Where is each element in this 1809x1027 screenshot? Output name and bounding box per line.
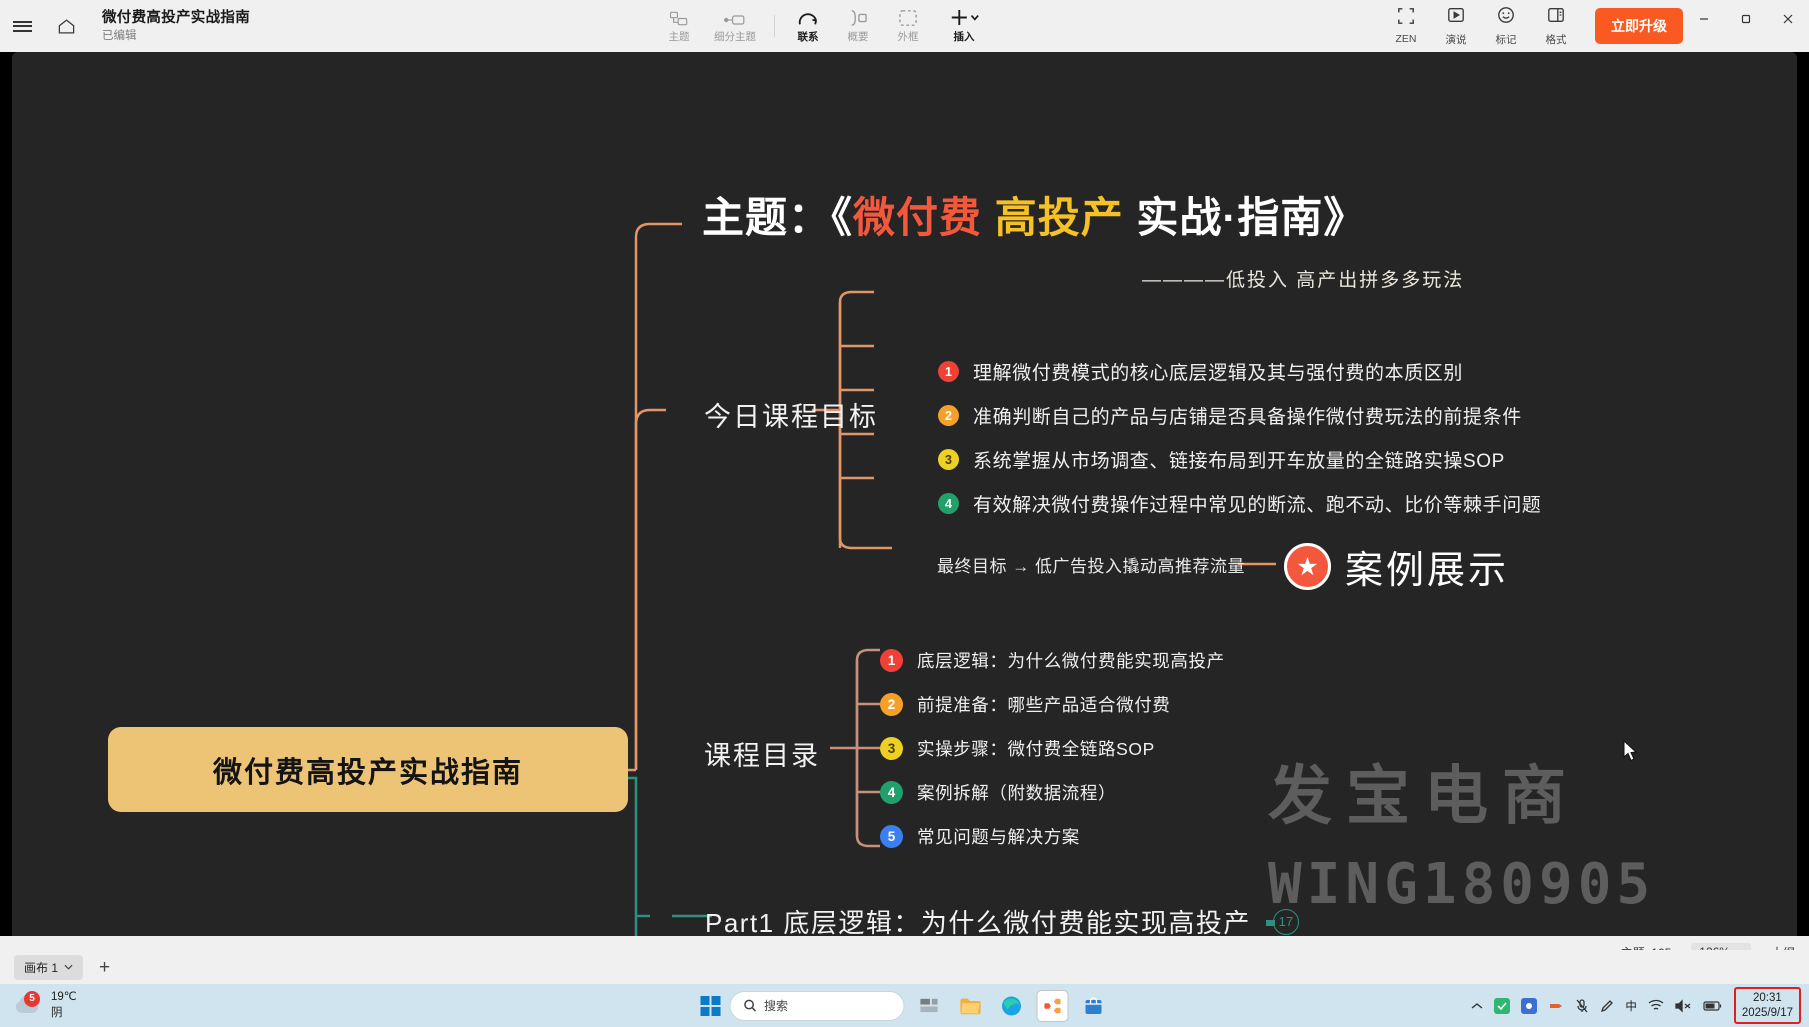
star-icon: ★ bbox=[1284, 543, 1331, 590]
document-status: 已编辑 bbox=[102, 29, 250, 43]
file-explorer-icon[interactable] bbox=[954, 990, 986, 1022]
maximize-button[interactable] bbox=[1725, 0, 1767, 38]
goal-number-1: 1 bbox=[938, 361, 959, 382]
tray-app2-icon[interactable] bbox=[1521, 998, 1537, 1014]
tray-app1-icon[interactable] bbox=[1494, 998, 1510, 1014]
title-red-part: 微付费 bbox=[853, 194, 982, 241]
tool-presentation[interactable]: 演说 bbox=[1433, 2, 1479, 50]
toolbar-center: 主题 细分主题 bbox=[655, 0, 994, 52]
cloud-icon: 5 bbox=[14, 993, 42, 1019]
catalog-item-4[interactable]: 4 案例拆解（附数据流程） bbox=[880, 780, 1116, 805]
toolbar-divider bbox=[774, 15, 775, 37]
subtopic-icon bbox=[723, 8, 747, 27]
catalog-item-5[interactable]: 5 常见问题与解决方案 bbox=[880, 824, 1080, 849]
presentation-icon bbox=[1447, 6, 1465, 29]
goal-number-3: 3 bbox=[938, 449, 959, 470]
catalog-text-4: 案例拆解（附数据流程） bbox=[917, 780, 1116, 805]
mouse-cursor bbox=[1623, 740, 1638, 767]
chevron-down-icon bbox=[64, 964, 73, 970]
case-showcase-label: 案例展示 bbox=[1345, 539, 1509, 594]
tool-insert[interactable]: 插入 bbox=[934, 2, 994, 50]
watermark-brand: 发宝电商 bbox=[1268, 745, 1580, 837]
title-bar: 微付费高投产实战指南 已编辑 主题 bbox=[0, 0, 1809, 52]
wifi-icon[interactable] bbox=[1648, 999, 1664, 1012]
goal-item-4[interactable]: 4 有效解决微付费操作过程中常见的断流、跑不动、比价等棘手问题 bbox=[938, 490, 1541, 517]
tool-subtopic[interactable]: 细分主题 bbox=[705, 2, 765, 50]
goal-text-2: 准确判断自己的产品与店铺是否具备操作微付费玩法的前提条件 bbox=[973, 402, 1522, 429]
taskbar-weather-widget[interactable]: 5 19℃ 阴 bbox=[14, 990, 77, 1021]
branch-catalog-node[interactable]: 课程目录 bbox=[704, 734, 820, 773]
tool-zen[interactable]: ZEN bbox=[1383, 2, 1429, 50]
part1-label: Part1 底层逻辑：为什么微付费能实现高投产 bbox=[705, 903, 1251, 940]
title-white-part: 实战·指南 bbox=[1136, 194, 1323, 241]
browser-icon[interactable] bbox=[995, 990, 1027, 1022]
weather-description: 阴 bbox=[51, 1006, 77, 1022]
volume-mute-icon[interactable] bbox=[1675, 999, 1692, 1013]
tool-zen-label: ZEN bbox=[1396, 33, 1417, 45]
topic-title-node[interactable]: 主题：《微付费 高投产 实战·指南》 bbox=[702, 184, 1366, 245]
canvas-tab-bar: 画布 1 + bbox=[0, 950, 1809, 984]
notification-badge: 5 bbox=[24, 991, 40, 1007]
start-button-icon[interactable] bbox=[700, 996, 720, 1016]
home-icon[interactable] bbox=[44, 0, 88, 52]
goal-text-4: 有效解决微付费操作过程中常见的断流、跑不动、比价等棘手问题 bbox=[973, 490, 1541, 517]
store-icon[interactable] bbox=[1077, 990, 1109, 1022]
upgrade-button[interactable]: 立即升级 bbox=[1595, 8, 1683, 44]
hamburger-menu-icon[interactable] bbox=[0, 0, 44, 52]
root-node-label: 微付费高投产实战指南 bbox=[213, 749, 523, 791]
add-canvas-button[interactable]: + bbox=[89, 958, 120, 977]
system-tray: 中 20:31 2025/9/17 bbox=[1471, 987, 1801, 1024]
catalog-text-2: 前提准备：哪些产品适合微付费 bbox=[917, 692, 1170, 717]
collapsed-children-badge[interactable]: 17 bbox=[1273, 909, 1299, 935]
mindmap-app-icon[interactable] bbox=[1036, 990, 1068, 1022]
weather-text: 19℃ 阴 bbox=[51, 990, 77, 1021]
close-button[interactable] bbox=[1767, 0, 1809, 38]
catalog-number-3: 3 bbox=[880, 737, 903, 760]
search-icon bbox=[743, 999, 756, 1012]
taskbar-clock[interactable]: 20:31 2025/9/17 bbox=[1734, 987, 1801, 1024]
tool-relation[interactable]: 联系 bbox=[784, 2, 832, 50]
battery-icon[interactable] bbox=[1703, 1000, 1723, 1012]
catalog-item-2[interactable]: 2 前提准备：哪些产品适合微付费 bbox=[880, 692, 1170, 717]
boundary-icon bbox=[898, 8, 918, 27]
document-meta: 微付费高投产实战指南 已编辑 bbox=[102, 9, 250, 44]
toolbar-right: ZEN 演说 bbox=[1383, 0, 1683, 52]
document-title: 微付费高投产实战指南 bbox=[102, 9, 250, 27]
part1-node[interactable]: Part1 底层逻辑：为什么微付费能实现高投产 17 bbox=[705, 903, 1299, 940]
taskbar-search-placeholder: 搜索 bbox=[764, 997, 788, 1014]
zen-mode-icon bbox=[1397, 7, 1415, 30]
pen-icon[interactable] bbox=[1600, 999, 1614, 1013]
catalog-number-1: 1 bbox=[880, 649, 903, 672]
format-panel-icon bbox=[1547, 6, 1565, 29]
goal-text-3: 系统掌握从市场调查、链接布局到开车放量的全链路实操SOP bbox=[973, 446, 1505, 473]
tool-topic-label: 主题 bbox=[669, 29, 690, 44]
tool-relation-label: 联系 bbox=[798, 29, 819, 44]
title-yellow-part: 高投产 bbox=[995, 194, 1124, 241]
tool-mark-label: 标记 bbox=[1496, 32, 1517, 47]
tool-boundary-label: 外框 bbox=[898, 29, 919, 44]
goal-number-4: 4 bbox=[938, 493, 959, 514]
clock-date: 2025/9/17 bbox=[1742, 1006, 1793, 1020]
catalog-text-1: 底层逻辑：为什么微付费能实现高投产 bbox=[917, 648, 1225, 673]
goal-item-2[interactable]: 2 准确判断自己的产品与店铺是否具备操作微付费玩法的前提条件 bbox=[938, 402, 1522, 429]
topic-subtitle-node[interactable]: ————低投入 高产出拼多多玩法 bbox=[1142, 265, 1464, 292]
topic-icon bbox=[669, 8, 689, 27]
taskview-icon[interactable] bbox=[913, 990, 945, 1022]
tool-subtopic-label: 细分主题 bbox=[714, 29, 756, 44]
taskbar-search-input[interactable]: 搜索 bbox=[729, 991, 904, 1021]
ime-indicator[interactable]: 中 bbox=[1625, 998, 1637, 1014]
topic-title-text: 主题：《微付费 高投产 实战·指南》 bbox=[702, 184, 1366, 245]
title-prefix: 主题： bbox=[702, 194, 831, 241]
goal-item-1[interactable]: 1 理解微付费模式的核心底层逻辑及其与强付费的本质区别 bbox=[938, 358, 1463, 385]
goal-number-2: 2 bbox=[938, 405, 959, 426]
canvas-tab-1-label: 画布 1 bbox=[24, 959, 58, 976]
weather-temperature: 19℃ bbox=[51, 990, 77, 1006]
case-showcase-node[interactable]: ★ 案例展示 bbox=[1284, 539, 1509, 594]
root-node[interactable]: 微付费高投产实战指南 bbox=[108, 727, 628, 812]
tray-app3-icon[interactable] bbox=[1548, 998, 1564, 1014]
insert-plus-icon bbox=[948, 8, 980, 27]
tool-format-label: 格式 bbox=[1546, 32, 1567, 47]
mindmap-canvas[interactable]: 发宝电商 WING180905 bbox=[12, 52, 1797, 950]
branch-goals-node[interactable]: 今日课程目标 bbox=[704, 395, 878, 434]
title-bracket-close: 》 bbox=[1323, 194, 1366, 241]
tool-presentation-label: 演说 bbox=[1446, 32, 1467, 47]
window-controls bbox=[1683, 0, 1809, 52]
final-goal-node[interactable]: 最终目标 → 低广告投入撬动高推荐流量 bbox=[937, 552, 1245, 577]
catalog-item-3[interactable]: 3 实操步骤：微付费全链路SOP bbox=[880, 736, 1155, 761]
app-window: 微付费高投产实战指南 已编辑 主题 bbox=[0, 0, 1809, 1027]
tool-insert-label: 插入 bbox=[954, 29, 975, 44]
tool-topic[interactable]: 主题 bbox=[655, 2, 703, 50]
canvas-tab-1[interactable]: 画布 1 bbox=[14, 955, 83, 980]
goal-text-1: 理解微付费模式的核心底层逻辑及其与强付费的本质区别 bbox=[973, 358, 1463, 385]
tool-summary-label: 概要 bbox=[848, 29, 869, 44]
catalog-text-3: 实操步骤：微付费全链路SOP bbox=[917, 736, 1155, 761]
summary-icon bbox=[847, 8, 869, 27]
catalog-number-4: 4 bbox=[880, 781, 903, 804]
relation-icon bbox=[797, 8, 819, 27]
tool-summary[interactable]: 概要 bbox=[834, 2, 882, 50]
windows-taskbar: 5 19℃ 阴 搜索 bbox=[0, 984, 1809, 1027]
clock-time: 20:31 bbox=[1742, 991, 1793, 1005]
catalog-number-5: 5 bbox=[880, 825, 903, 848]
minimize-button[interactable] bbox=[1683, 0, 1725, 38]
tool-format[interactable]: 格式 bbox=[1533, 2, 1579, 50]
catalog-text-5: 常见问题与解决方案 bbox=[917, 824, 1080, 849]
taskbar-apps: 搜索 bbox=[700, 990, 1109, 1022]
catalog-item-1[interactable]: 1 底层逻辑：为什么微付费能实现高投产 bbox=[880, 648, 1225, 673]
title-bracket-open: 《 bbox=[831, 194, 853, 241]
watermark-id: WING180905 bbox=[1268, 852, 1655, 917]
tool-mark[interactable]: 标记 bbox=[1483, 2, 1529, 50]
mindmap-canvas-inner: 发宝电商 WING180905 bbox=[12, 52, 1797, 950]
emoji-mark-icon bbox=[1497, 6, 1515, 29]
goal-item-3[interactable]: 3 系统掌握从市场调查、链接布局到开车放量的全链路实操SOP bbox=[938, 446, 1505, 473]
microphone-icon[interactable] bbox=[1575, 998, 1589, 1014]
tray-chevron-up-icon[interactable] bbox=[1471, 1002, 1483, 1010]
catalog-number-2: 2 bbox=[880, 693, 903, 716]
tool-boundary[interactable]: 外框 bbox=[884, 2, 932, 50]
